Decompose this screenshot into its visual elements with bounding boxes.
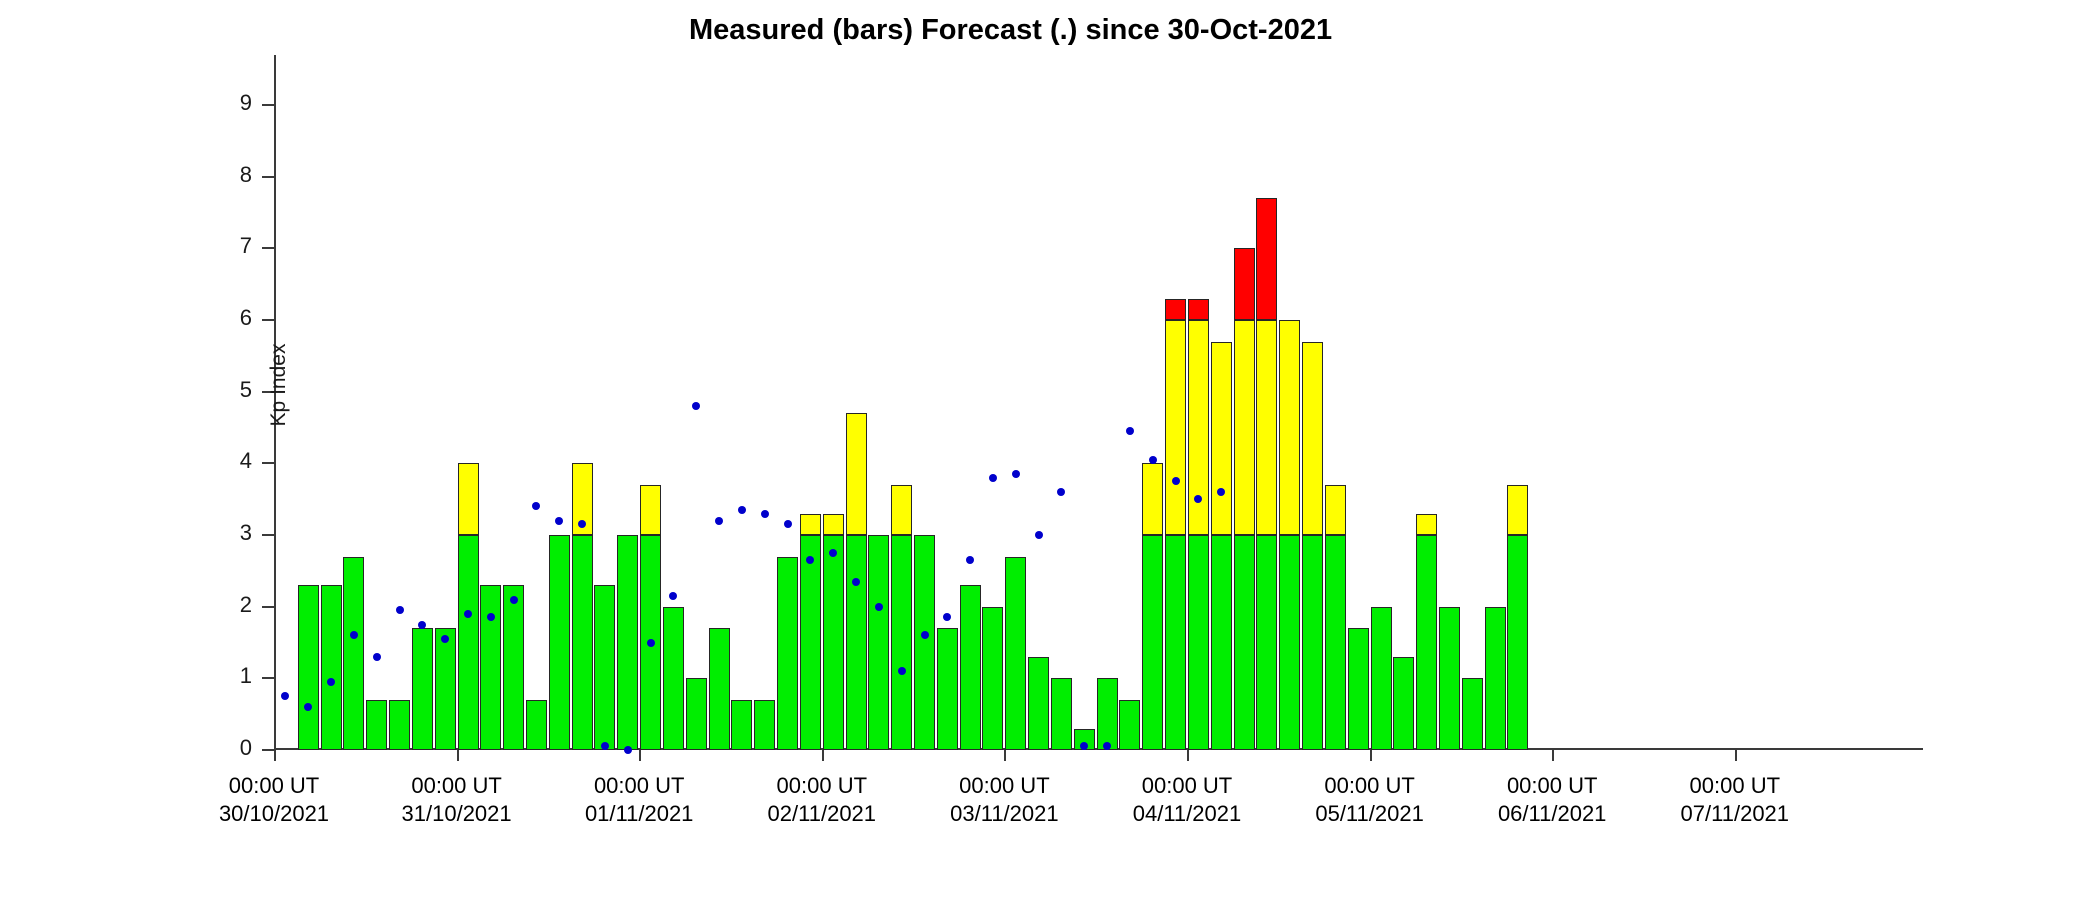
- bar-segment: [298, 585, 319, 750]
- measured-bar: [573, 463, 592, 750]
- measured-bar: [664, 607, 683, 750]
- measured-bar: [481, 585, 500, 750]
- bar-segment: [458, 535, 479, 750]
- measured-bar: [367, 700, 386, 750]
- measured-bar: [915, 535, 934, 750]
- bar-segment: [1142, 463, 1163, 535]
- x-tick-04/11/2021: [1187, 750, 1189, 761]
- bar-segment: [1416, 535, 1437, 750]
- forecast-dot: [1149, 456, 1157, 464]
- forecast-dot: [396, 606, 404, 614]
- forecast-dot: [669, 592, 677, 600]
- x-tick-05/11/2021: [1370, 750, 1372, 761]
- x-tick-time: 00:00 UT: [722, 772, 922, 800]
- measured-bar: [390, 700, 409, 750]
- bar-segment: [1188, 299, 1209, 320]
- bar-segment: [617, 535, 638, 750]
- bar-segment: [1393, 657, 1414, 750]
- x-tick-label-group: 00:00 UT30/10/2021: [174, 772, 374, 828]
- measured-bar: [459, 463, 478, 750]
- plot-area: 0123456789 Kp Index 00:00 UT30/10/202100…: [274, 55, 1923, 750]
- bar-segment: [435, 628, 456, 750]
- bar-segment: [1211, 342, 1232, 535]
- bar-segment: [1462, 678, 1483, 750]
- measured-bar: [938, 628, 957, 750]
- forecast-dot: [1035, 531, 1043, 539]
- y-tick-label-5: 5: [212, 377, 252, 403]
- measured-bar: [1006, 557, 1025, 750]
- bar-segment: [800, 514, 821, 535]
- y-tick-label-6: 6: [212, 305, 252, 331]
- measured-bar: [413, 628, 432, 750]
- bar-segment: [412, 628, 433, 750]
- y-tick-label-4: 4: [212, 448, 252, 474]
- measured-bar: [778, 557, 797, 750]
- measured-bar: [1029, 657, 1048, 750]
- measured-bar: [1098, 678, 1117, 750]
- measured-bar: [1143, 463, 1162, 750]
- forecast-dot: [875, 603, 883, 611]
- y-tick-0: [262, 749, 274, 751]
- bar-segment: [1005, 557, 1026, 750]
- bar-segment: [777, 557, 798, 750]
- x-tick-30/10/2021: [274, 750, 276, 761]
- forecast-dot: [966, 556, 974, 564]
- y-axis-title: Kp Index: [267, 285, 291, 485]
- x-tick-time: 00:00 UT: [1270, 772, 1470, 800]
- x-tick-label-group: 00:00 UT04/11/2021: [1087, 772, 1287, 828]
- bar-segment: [1119, 700, 1140, 750]
- bar-segment: [914, 535, 935, 750]
- x-tick-date: 06/11/2021: [1452, 800, 1652, 828]
- measured-bar: [869, 535, 888, 750]
- bar-segment: [480, 585, 501, 750]
- measured-bar: [1120, 700, 1139, 750]
- bar-segment: [1256, 320, 1277, 535]
- x-tick-date: 05/11/2021: [1270, 800, 1470, 828]
- bar-segment: [526, 700, 547, 750]
- x-tick-time: 00:00 UT: [1635, 772, 1835, 800]
- measured-bar: [1052, 678, 1071, 750]
- measured-bar: [687, 678, 706, 750]
- forecast-dot: [1172, 477, 1180, 485]
- page-title: Measured (bars) Forecast (.) since 30-Oc…: [689, 14, 1689, 47]
- bar-segment: [982, 607, 1003, 750]
- measured-bar: [732, 700, 751, 750]
- bar-segment: [549, 535, 570, 750]
- measured-bar: [1463, 678, 1482, 750]
- bar-segment: [1507, 485, 1528, 535]
- x-tick-label-group: 00:00 UT01/11/2021: [539, 772, 739, 828]
- bar-segment: [1051, 678, 1072, 750]
- bar-segment: [663, 607, 684, 750]
- measured-bar: [322, 585, 341, 750]
- forecast-dot: [738, 506, 746, 514]
- bar-segment: [846, 413, 867, 535]
- x-tick-07/11/2021: [1735, 750, 1737, 761]
- measured-bar: [1326, 485, 1345, 750]
- y-tick-label-1: 1: [212, 663, 252, 689]
- x-tick-02/11/2021: [822, 750, 824, 761]
- measured-bar: [436, 628, 455, 750]
- measured-bar: [595, 585, 614, 750]
- y-tick-label-3: 3: [212, 520, 252, 546]
- measured-bar: [710, 628, 729, 750]
- bar-segment: [1348, 628, 1369, 750]
- measured-bar: [961, 585, 980, 750]
- x-tick-time: 00:00 UT: [1452, 772, 1652, 800]
- forecast-dot: [327, 678, 335, 686]
- bar-segment: [823, 514, 844, 535]
- bar-segment: [1279, 320, 1300, 535]
- measured-bar: [983, 607, 1002, 750]
- y-tick-label-7: 7: [212, 233, 252, 259]
- measured-bar: [1508, 485, 1527, 750]
- x-tick-label-group: 00:00 UT31/10/2021: [357, 772, 557, 828]
- measured-bar: [1257, 198, 1276, 750]
- y-tick-3: [262, 534, 274, 536]
- forecast-dot: [1012, 470, 1020, 478]
- measured-bar: [618, 535, 637, 750]
- bar-segment: [572, 535, 593, 750]
- measured-bar: [1280, 320, 1299, 750]
- forecast-dot: [373, 653, 381, 661]
- x-tick-time: 00:00 UT: [357, 772, 557, 800]
- bar-segment: [800, 535, 821, 750]
- measured-bar: [1349, 628, 1368, 750]
- measured-bar: [1486, 607, 1505, 750]
- bar-segment: [594, 585, 615, 750]
- x-tick-03/11/2021: [1004, 750, 1006, 761]
- forecast-dot: [715, 517, 723, 525]
- forecast-dot: [418, 621, 426, 629]
- x-tick-date: 04/11/2021: [1087, 800, 1287, 828]
- x-tick-label-group: 00:00 UT05/11/2021: [1270, 772, 1470, 828]
- forecast-dot: [624, 746, 632, 754]
- forecast-dot: [921, 631, 929, 639]
- forecast-dot: [1057, 488, 1065, 496]
- bar-segment: [1302, 535, 1323, 750]
- x-tick-date: 31/10/2021: [357, 800, 557, 828]
- bar-segment: [1097, 678, 1118, 750]
- y-tick-1: [262, 677, 274, 679]
- forecast-dot: [761, 510, 769, 518]
- bar-segment: [503, 585, 524, 750]
- bar-segment: [1234, 248, 1255, 320]
- bar-segment: [321, 585, 342, 750]
- bar-segment: [731, 700, 752, 750]
- x-tick-time: 00:00 UT: [904, 772, 1104, 800]
- bar-segment: [709, 628, 730, 750]
- bar-segment: [1211, 535, 1232, 750]
- forecast-dot: [1126, 427, 1134, 435]
- bar-segment: [640, 485, 661, 535]
- bar-segment: [389, 700, 410, 750]
- bar-segment: [1371, 607, 1392, 750]
- forecast-dot: [464, 610, 472, 618]
- x-tick-date: 07/11/2021: [1635, 800, 1835, 828]
- bar-segment: [868, 535, 889, 750]
- y-tick-8: [262, 176, 274, 178]
- measured-bar: [1372, 607, 1391, 750]
- bar-segment: [1439, 607, 1460, 750]
- bar-segment: [1256, 535, 1277, 750]
- measured-bar: [892, 485, 911, 750]
- y-tick-label-0: 0: [212, 735, 252, 761]
- forecast-dot: [943, 613, 951, 621]
- x-tick-label-group: 00:00 UT02/11/2021: [722, 772, 922, 828]
- bar-segment: [960, 585, 981, 750]
- bar-segment: [1256, 198, 1277, 320]
- bar-segment: [1234, 320, 1255, 535]
- measured-bar: [299, 585, 318, 750]
- bar-segment: [1485, 607, 1506, 750]
- bar-segment: [458, 463, 479, 535]
- bar-segment: [937, 628, 958, 750]
- bar-segment: [1165, 320, 1186, 535]
- x-tick-time: 00:00 UT: [539, 772, 739, 800]
- forecast-dot: [784, 520, 792, 528]
- bar-segment: [1302, 342, 1323, 535]
- y-tick-2: [262, 606, 274, 608]
- measured-bar: [1212, 342, 1231, 750]
- x-tick-31/10/2021: [457, 750, 459, 761]
- bar-segment: [343, 557, 364, 750]
- measured-bar: [801, 514, 820, 750]
- bar-segment: [1142, 535, 1163, 750]
- bar-segment: [1028, 657, 1049, 750]
- forecast-dot: [692, 402, 700, 410]
- forecast-dot: [510, 596, 518, 604]
- bar-segment: [1234, 535, 1255, 750]
- measured-bar: [1189, 299, 1208, 750]
- forecast-dot: [989, 474, 997, 482]
- y-tick-label-2: 2: [212, 592, 252, 618]
- x-tick-date: 30/10/2021: [174, 800, 374, 828]
- measured-bar: [1394, 657, 1413, 750]
- measured-bar: [641, 485, 660, 750]
- x-tick-01/11/2021: [639, 750, 641, 761]
- measured-bar: [550, 535, 569, 750]
- x-tick-time: 00:00 UT: [174, 772, 374, 800]
- measured-bar: [1303, 342, 1322, 750]
- bar-segment: [1507, 535, 1528, 750]
- measured-bar: [1417, 514, 1436, 750]
- x-tick-label-group: 00:00 UT06/11/2021: [1452, 772, 1652, 828]
- y-tick-7: [262, 247, 274, 249]
- kp-index-chart: Measured (bars) Forecast (.) since 30-Oc…: [0, 0, 2100, 900]
- forecast-dot: [852, 578, 860, 586]
- bar-segment: [846, 535, 867, 750]
- forecast-dot: [532, 502, 540, 510]
- forecast-dot: [555, 517, 563, 525]
- bar-segment: [754, 700, 775, 750]
- bar-segment: [891, 485, 912, 535]
- bar-segment: [1416, 514, 1437, 535]
- bar-segment: [1165, 299, 1186, 320]
- y-tick-9: [262, 104, 274, 106]
- bar-segment: [1279, 535, 1300, 750]
- forecast-dot: [898, 667, 906, 675]
- bar-segment: [891, 535, 912, 750]
- bar-segment: [1325, 485, 1346, 535]
- measured-bar: [1166, 299, 1185, 750]
- measured-bar: [527, 700, 546, 750]
- bar-segment: [1325, 535, 1346, 750]
- x-tick-06/11/2021: [1552, 750, 1554, 761]
- bar-segment: [366, 700, 387, 750]
- y-tick-label-8: 8: [212, 162, 252, 188]
- x-tick-date: 02/11/2021: [722, 800, 922, 828]
- bar-segment: [1188, 535, 1209, 750]
- forecast-dot: [281, 692, 289, 700]
- measured-bar: [344, 557, 363, 750]
- measured-bar: [1440, 607, 1459, 750]
- y-tick-label-9: 9: [212, 90, 252, 116]
- measured-bar: [1235, 248, 1254, 750]
- x-tick-date: 01/11/2021: [539, 800, 739, 828]
- x-tick-date: 03/11/2021: [904, 800, 1104, 828]
- x-tick-time: 00:00 UT: [1087, 772, 1287, 800]
- measured-bar: [755, 700, 774, 750]
- forecast-dot: [647, 639, 655, 647]
- measured-bar: [504, 585, 523, 750]
- bar-segment: [1165, 535, 1186, 750]
- bar-segment: [823, 535, 844, 750]
- x-tick-label-group: 00:00 UT07/11/2021: [1635, 772, 1835, 828]
- bar-segment: [686, 678, 707, 750]
- x-tick-label-group: 00:00 UT03/11/2021: [904, 772, 1104, 828]
